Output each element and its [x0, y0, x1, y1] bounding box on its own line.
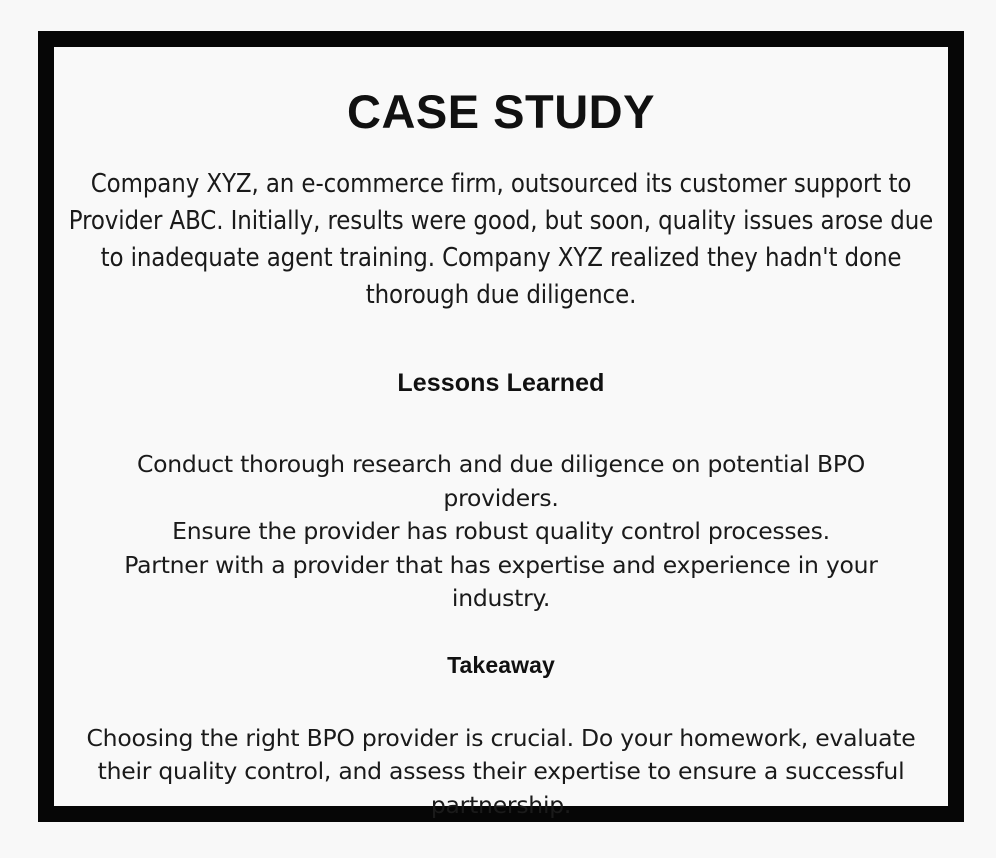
list-item: Partner with a provider that has experti… [81, 549, 921, 616]
takeaway-paragraph: Choosing the right BPO provider is cruci… [81, 722, 921, 823]
intro-paragraph: Company XYZ, an e-commerce firm, outsour… [68, 166, 934, 314]
page-title: CASE STUDY [347, 87, 655, 138]
takeaway-heading: Takeaway [447, 652, 555, 679]
lessons-learned-list: Conduct thorough research and due dilige… [81, 448, 921, 616]
list-item: Ensure the provider has robust quality c… [81, 515, 921, 549]
card-content-area: CASE STUDY Company XYZ, an e-commerce fi… [54, 47, 948, 806]
case-study-card: CASE STUDY Company XYZ, an e-commerce fi… [38, 31, 964, 822]
lessons-learned-heading: Lessons Learned [397, 369, 604, 398]
list-item: Conduct thorough research and due dilige… [81, 448, 921, 515]
